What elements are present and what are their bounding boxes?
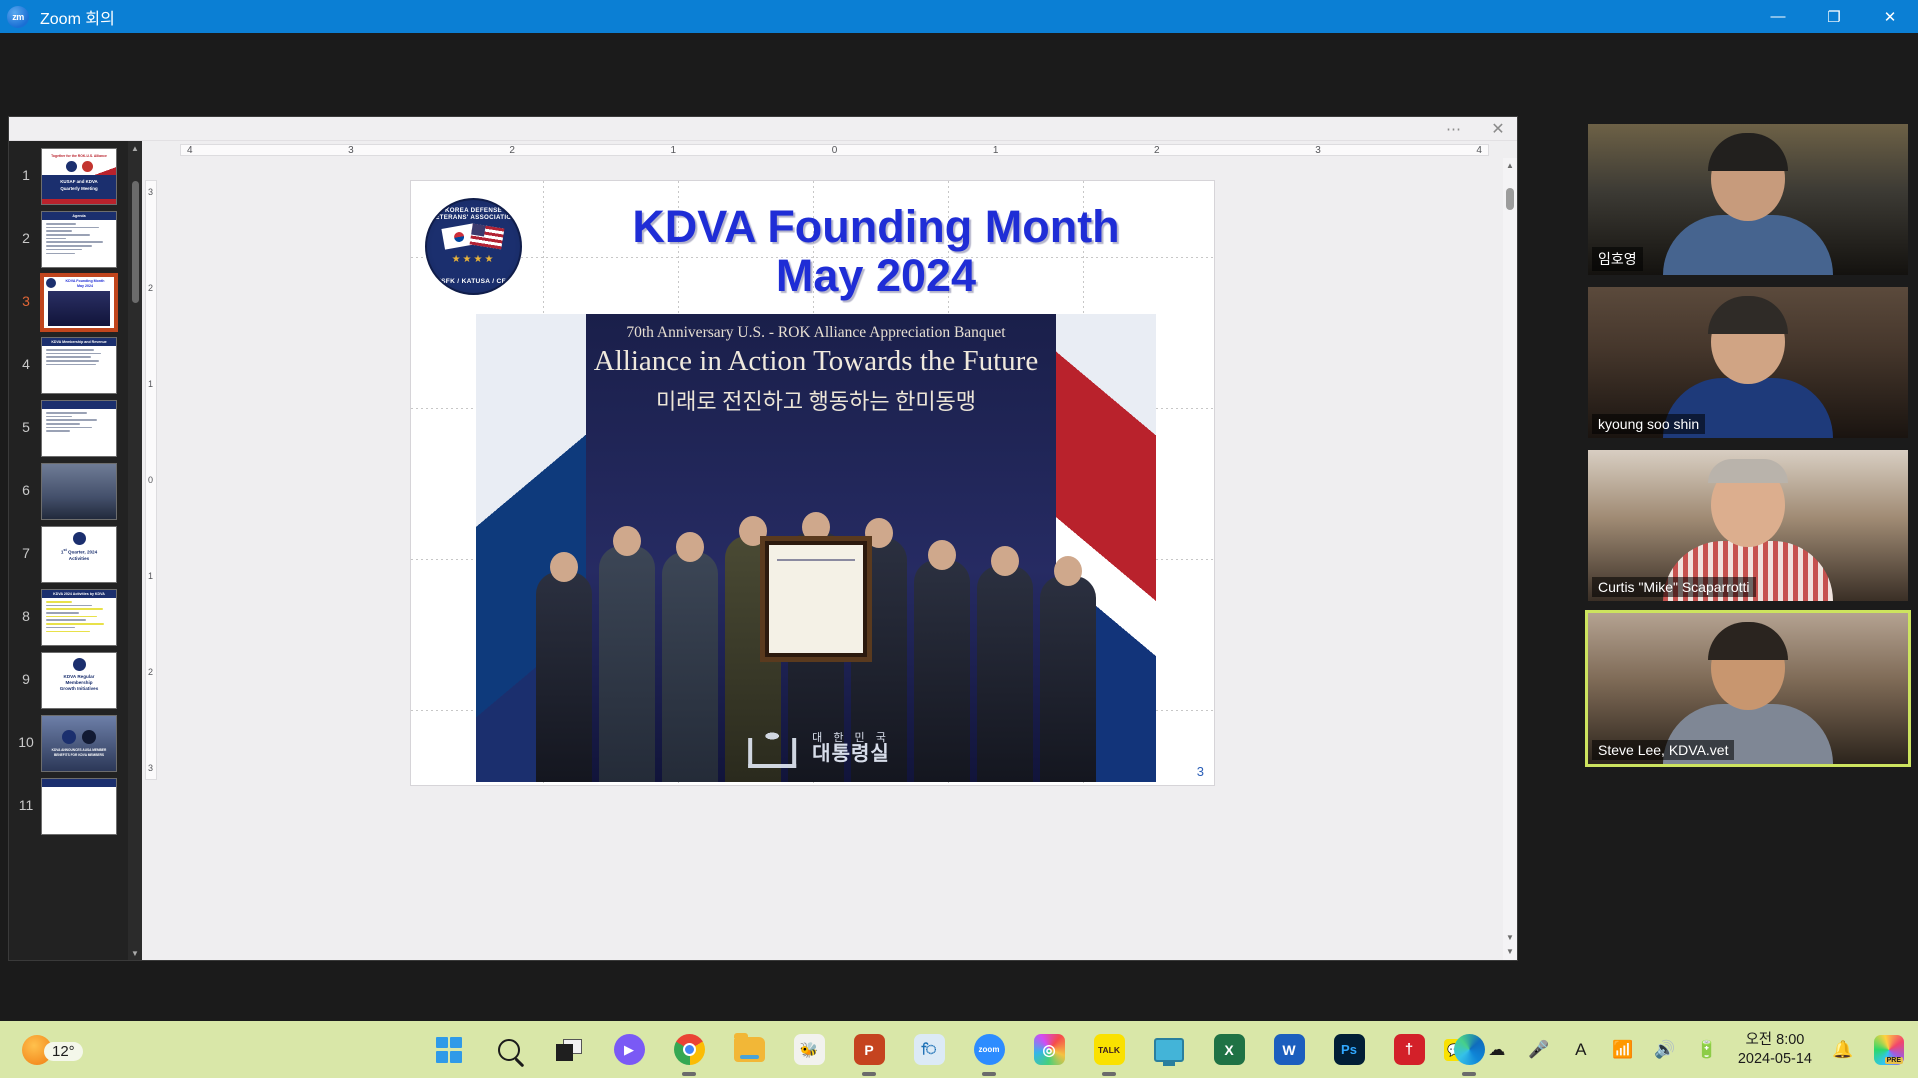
- thumbnail-preview[interactable]: KDVA RegularMembershipGrowth Initiatives: [41, 652, 117, 709]
- person-figure: [662, 552, 718, 782]
- scrollbar-thumb[interactable]: [1506, 188, 1514, 210]
- clock[interactable]: 오전 8:00 2024-05-14: [1738, 1031, 1812, 1067]
- current-slide[interactable]: KOREA DEFENSE VETERANS' ASSOCIATION ★★★★…: [410, 180, 1215, 786]
- zoom-icon: zoom: [974, 1034, 1005, 1065]
- thumbnail-header: KDVA 2024 Activities by KDVA: [42, 590, 116, 598]
- participant-name: Curtis "Mike" Scaparrotti: [1592, 577, 1756, 597]
- scroll-up-icon[interactable]: ▲: [1503, 158, 1517, 172]
- meet-app[interactable]: ▶: [611, 1032, 647, 1068]
- excel-app[interactable]: X: [1211, 1032, 1247, 1068]
- slide-thumbnail-pane[interactable]: 1 Together for the ROK-U.S. Alliance KUS…: [9, 141, 142, 960]
- thumbnail-item-1[interactable]: 1 Together for the ROK-U.S. Alliance KUS…: [9, 148, 142, 211]
- powerpoint-body: 1 Together for the ROK-U.S. Alliance KUS…: [9, 141, 1517, 960]
- award-certificate: [760, 536, 872, 662]
- thumbnail-number: 10: [18, 735, 34, 749]
- alzip-app[interactable]: 🐝: [791, 1032, 827, 1068]
- shared-window-close-icon[interactable]: ✕: [1485, 119, 1511, 139]
- thumbnail-header: KDVA Membership and Revenue: [42, 338, 116, 346]
- copilot-button[interactable]: PRE: [1874, 1035, 1904, 1065]
- ruler-tick: 3: [348, 145, 354, 156]
- window-controls: — ❐ ✕: [1750, 0, 1918, 33]
- person-figure: [599, 546, 655, 782]
- thumbnail-number: 9: [18, 672, 34, 686]
- thumbnail-preview[interactable]: [41, 463, 117, 520]
- thumbnail-number: 3: [18, 294, 34, 308]
- slide-thumbnail-list: 1 Together for the ROK-U.S. Alliance KUS…: [9, 141, 142, 841]
- thumbnail-item-7[interactable]: 7 1st Quarter, 2024Activities: [9, 526, 142, 589]
- windows-taskbar: 12° ▶ 🐝 P ਿ: [0, 1021, 1918, 1078]
- person-figure: [1040, 576, 1096, 782]
- microphone-icon[interactable]: 🎤: [1528, 1039, 1550, 1061]
- monitor-icon: [1154, 1038, 1184, 1062]
- shared-screen-powerpoint: ⋯ ✕ 1 Together for the ROK-U.S. Alliance: [9, 117, 1517, 960]
- task-view-button[interactable]: [551, 1032, 587, 1068]
- edge-app[interactable]: [1451, 1032, 1487, 1068]
- thumbnail-header: [42, 401, 116, 409]
- slide-title-line1: KDVA Founding Month: [632, 201, 1119, 252]
- thumbnail-item-2[interactable]: 2 Agenda: [9, 211, 142, 274]
- taskbar-app-icons: ▶ 🐝 P ਿ zoom ◎ TALK: [431, 1032, 1487, 1068]
- alzip-icon: 🐝: [794, 1034, 825, 1065]
- ruler-tick: 3: [1315, 145, 1321, 156]
- thumbnail-item-6[interactable]: 6: [9, 463, 142, 526]
- ruler-tick: 4: [1476, 145, 1482, 156]
- acrobat-app[interactable]: †: [1391, 1032, 1427, 1068]
- excel-icon: X: [1214, 1034, 1245, 1065]
- participant-name: 임호영: [1592, 247, 1643, 271]
- thumbnail-scrollbar[interactable]: ▲ ▼: [128, 141, 142, 960]
- slide-canvas: KOREA DEFENSE VETERANS' ASSOCIATION ★★★★…: [142, 158, 1517, 960]
- banner-line2: Alliance in Action Towards the Future: [566, 345, 1066, 378]
- slide-photo[interactable]: 70th Anniversary U.S. - ROK Alliance App…: [476, 314, 1156, 782]
- person-figure: [977, 566, 1033, 782]
- copilot-badge: PRE: [1885, 1057, 1903, 1064]
- bell-icon[interactable]: 🔔: [1832, 1039, 1854, 1061]
- search-button[interactable]: [491, 1032, 527, 1068]
- thumbnail-item-9[interactable]: 9 KDVA RegularMembershipGrowth Initiativ…: [9, 652, 142, 715]
- weather-widget[interactable]: 12°: [22, 1035, 142, 1065]
- ruler-tick: 1: [993, 145, 999, 156]
- zoom-titlebar: zm Zoom 회의 — ❐ ✕: [0, 0, 1918, 33]
- zoom-app[interactable]: zoom: [971, 1032, 1007, 1068]
- ruler-tick: 1: [671, 145, 677, 156]
- thumbnail-bullets: [42, 409, 116, 437]
- remote-desktop-app[interactable]: [1151, 1032, 1187, 1068]
- thumbnail-number: 1: [18, 168, 34, 182]
- clock-time: 오전 8:00: [1738, 1031, 1812, 1049]
- scroll-down-icon[interactable]: ▼: [128, 946, 142, 960]
- participant-video-strip: 임호영 kyoung soo shin Curtis "Mike" Scapar…: [1578, 33, 1918, 1021]
- close-button[interactable]: ✕: [1862, 0, 1918, 33]
- wifi-icon[interactable]: 📶: [1612, 1039, 1634, 1061]
- cloud-icon[interactable]: ☁: [1486, 1039, 1508, 1061]
- horizontal-ruler: 4 3 2 1 0 1 2 3 4: [142, 141, 1517, 158]
- event-banner: 70th Anniversary U.S. - ROK Alliance App…: [566, 324, 1066, 416]
- participant-tile-4-active-speaker[interactable]: Steve Lee, KDVA.vet: [1588, 613, 1908, 764]
- kdva-logo-icon: [73, 532, 86, 545]
- task-view-icon: [556, 1039, 582, 1061]
- seal-ring-bottom-text: USFK / KATUSA / CFC: [427, 278, 520, 285]
- slide-title-line2: May 2024: [561, 252, 1191, 301]
- presidential-office-text: 대 한 민 국 대통령실: [812, 733, 890, 766]
- thumbnail-item-11[interactable]: 11: [9, 778, 142, 841]
- certificate-paper: [769, 545, 863, 653]
- kakaotalk-app[interactable]: TALK: [1091, 1032, 1127, 1068]
- thumbnail-caption: KDVA RegularMembershipGrowth Initiatives: [42, 674, 116, 693]
- more-options-icon[interactable]: ⋯: [1446, 120, 1463, 138]
- scroll-down-icon[interactable]: ▼: [1503, 930, 1517, 944]
- person-figure: [536, 572, 592, 782]
- thumbnail-item-10[interactable]: 10 KDVA ANNOUNCES AUSA MEMBERBENEFITS FO…: [9, 715, 142, 778]
- ruler-tick: 2: [1154, 145, 1160, 156]
- scrollbar-thumb[interactable]: [132, 181, 139, 303]
- banner-line3: 미래로 전진하고 행동하는 한미동맹: [566, 384, 1066, 416]
- ruler-tick: 0: [832, 145, 838, 156]
- thumbnail-preview[interactable]: Together for the ROK-U.S. Alliance KUSAF…: [41, 148, 117, 205]
- scroll-up-icon[interactable]: ▲: [128, 141, 142, 155]
- weather-temperature: 12°: [44, 1042, 83, 1061]
- start-button[interactable]: [431, 1032, 467, 1068]
- participant-name: Steve Lee, KDVA.vet: [1592, 740, 1734, 760]
- maximize-button[interactable]: ❐: [1806, 0, 1862, 33]
- powerpoint-icon: P: [854, 1034, 885, 1065]
- search-icon: [498, 1039, 520, 1061]
- zoom-icon: zm: [7, 6, 29, 28]
- thumbnail-item-8[interactable]: 8 KDVA 2024 Activities by KDVA: [9, 589, 142, 652]
- creative-cloud-app[interactable]: ◎: [1031, 1032, 1067, 1068]
- usa-flag-icon: [470, 224, 505, 250]
- participant-name: kyoung soo shin: [1592, 414, 1705, 434]
- slide-page-number: 3: [1197, 764, 1204, 779]
- phoenix-emblem-icon: [742, 726, 802, 772]
- powerpoint-app[interactable]: P: [851, 1032, 887, 1068]
- kakaotalk-icon: TALK: [1094, 1034, 1125, 1065]
- hancom-icon: ਿ: [914, 1034, 945, 1065]
- battery-icon[interactable]: 🔋: [1696, 1039, 1718, 1061]
- windows-icon: [436, 1037, 462, 1063]
- thumbnail-item-3[interactable]: 3 KDVA Founding MonthMay 2024: [9, 274, 142, 337]
- thumbnail-number: 7: [18, 546, 34, 560]
- thumbnail-bullets: [42, 598, 116, 637]
- word-app[interactable]: W: [1271, 1032, 1307, 1068]
- thumbnail-bullets: [42, 346, 116, 370]
- presidential-office-emblem: 대 한 민 국 대통령실: [742, 726, 890, 772]
- slide-edit-area: 4 3 2 1 0 1 2 3 4 3 2 1: [142, 141, 1517, 960]
- thumbnail-preview[interactable]: [41, 778, 117, 835]
- clock-date: 2024-05-14: [1738, 1050, 1812, 1068]
- chrome-app[interactable]: [671, 1032, 707, 1068]
- thumbnail-item-5[interactable]: 5: [9, 400, 142, 463]
- acrobat-icon: †: [1394, 1034, 1425, 1065]
- thumbnail-header: [42, 779, 116, 787]
- thumbnail-preview-selected[interactable]: KDVA Founding MonthMay 2024: [41, 274, 117, 331]
- video-chat-icon: ▶: [614, 1034, 645, 1065]
- participant-tile-1[interactable]: 임호영: [1588, 124, 1908, 275]
- thumbnail-header: Agenda: [42, 212, 116, 220]
- next-slide-icon[interactable]: ▼: [1503, 944, 1517, 958]
- word-icon: W: [1274, 1034, 1305, 1065]
- minimize-button[interactable]: —: [1750, 0, 1806, 33]
- seal-ring-top-text: KOREA DEFENSE VETERANS' ASSOCIATION: [427, 207, 520, 221]
- thumbnail-number: 2: [18, 231, 34, 245]
- participant-video-image: [1663, 137, 1833, 275]
- slide-vertical-scrollbar[interactable]: ▲ ▼ ▼: [1503, 158, 1517, 960]
- hancom-app[interactable]: ਿ: [911, 1032, 947, 1068]
- zoom-meeting-stage: ⋯ ✕ 1 Together for the ROK-U.S. Alliance: [0, 33, 1918, 1021]
- presidential-office-line2: 대통령실: [812, 744, 890, 765]
- ime-indicator[interactable]: A: [1570, 1039, 1592, 1061]
- thumbnail-preview[interactable]: KDVA ANNOUNCES AUSA MEMBERBENEFITS FOR K…: [41, 715, 117, 772]
- thumbnail-number: 8: [18, 609, 34, 623]
- thumbnail-number: 5: [18, 420, 34, 434]
- thumbnail-bullets: [42, 220, 116, 259]
- speaker-icon[interactable]: 🔊: [1654, 1039, 1676, 1061]
- window-title: Zoom 회의: [40, 5, 115, 29]
- edge-icon: [1454, 1034, 1485, 1065]
- person-figure: [914, 560, 970, 782]
- thumbnail-preview[interactable]: Agenda: [41, 211, 117, 268]
- thumbnail-number: 11: [18, 798, 34, 812]
- ruler-tick: 2: [509, 145, 515, 156]
- slide-title[interactable]: KDVA Founding Month May 2024: [561, 203, 1191, 300]
- thumbnail-preview[interactable]: KDVA 2024 Activities by KDVA: [41, 589, 117, 646]
- thumbnail-preview[interactable]: KDVA Membership and Revenue: [41, 337, 117, 394]
- chrome-icon: [674, 1034, 705, 1065]
- participant-tile-2[interactable]: kyoung soo shin: [1588, 287, 1908, 438]
- ruler-tick: 4: [187, 145, 193, 156]
- thumbnail-preview[interactable]: 1st Quarter, 2024Activities: [41, 526, 117, 583]
- horizontal-ruler-track: 4 3 2 1 0 1 2 3 4: [180, 144, 1489, 156]
- adobe-cc-icon: ◎: [1034, 1034, 1065, 1065]
- folder-icon: [734, 1037, 765, 1062]
- kdva-seal-icon: KOREA DEFENSE VETERANS' ASSOCIATION ★★★★…: [425, 198, 522, 295]
- thumbnail-item-4[interactable]: 4 KDVA Membership and Revenue: [9, 337, 142, 400]
- thumbnail-number: 4: [18, 357, 34, 371]
- thumbnail-number: 6: [18, 483, 34, 497]
- thumbnail-caption: 1st Quarter, 2024Activities: [42, 548, 116, 562]
- photoshop-icon: Ps: [1334, 1034, 1365, 1065]
- photoshop-app[interactable]: Ps: [1331, 1032, 1367, 1068]
- seal-stars: ★★★★: [427, 254, 520, 265]
- kdva-logo-icon: [73, 658, 86, 671]
- flags-icon: [443, 224, 507, 252]
- banner-line1: 70th Anniversary U.S. - ROK Alliance App…: [566, 324, 1066, 342]
- participant-tile-3[interactable]: Curtis "Mike" Scaparrotti: [1588, 450, 1908, 601]
- file-explorer-app[interactable]: [731, 1032, 767, 1068]
- thumbnail-preview[interactable]: [41, 400, 117, 457]
- shared-window-topbar: ⋯ ✕: [9, 117, 1517, 141]
